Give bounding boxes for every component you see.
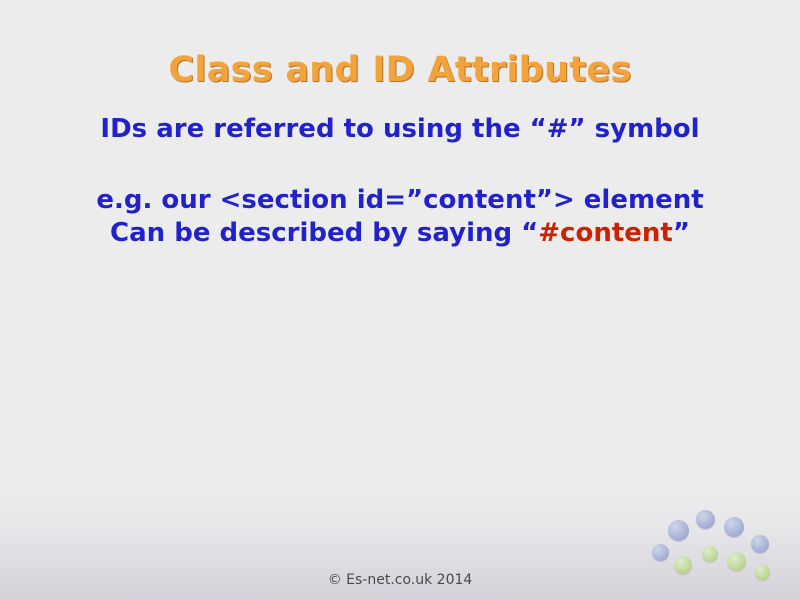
slide: Class and ID Attributes IDs are referred… [0, 0, 800, 600]
body-line-3-lead: Can be described by saying “ [110, 218, 538, 248]
dot-blue-1 [652, 544, 669, 561]
dot-green-4 [755, 565, 770, 580]
dot-green-1 [674, 556, 692, 574]
body-line-2: e.g. our <section id=”content”> element [0, 184, 800, 217]
body-line-3-highlight: #content [538, 218, 673, 248]
body-line-3: Can be described by saying “#content” [0, 217, 800, 250]
dot-blue-2 [668, 520, 689, 541]
slide-body: IDs are referred to using the “#” symbol… [0, 113, 800, 249]
decorative-dots [652, 510, 782, 590]
dot-blue-3 [696, 510, 715, 529]
dot-green-3 [727, 552, 746, 571]
body-line-3-tail: ” [673, 218, 690, 248]
body-line-spacer [0, 146, 800, 184]
dot-green-2 [702, 546, 718, 562]
page-title: Class and ID Attributes [0, 50, 800, 90]
dot-blue-5 [751, 535, 769, 553]
body-line-1: IDs are referred to using the “#” symbol [0, 113, 800, 146]
dot-blue-4 [724, 517, 744, 537]
